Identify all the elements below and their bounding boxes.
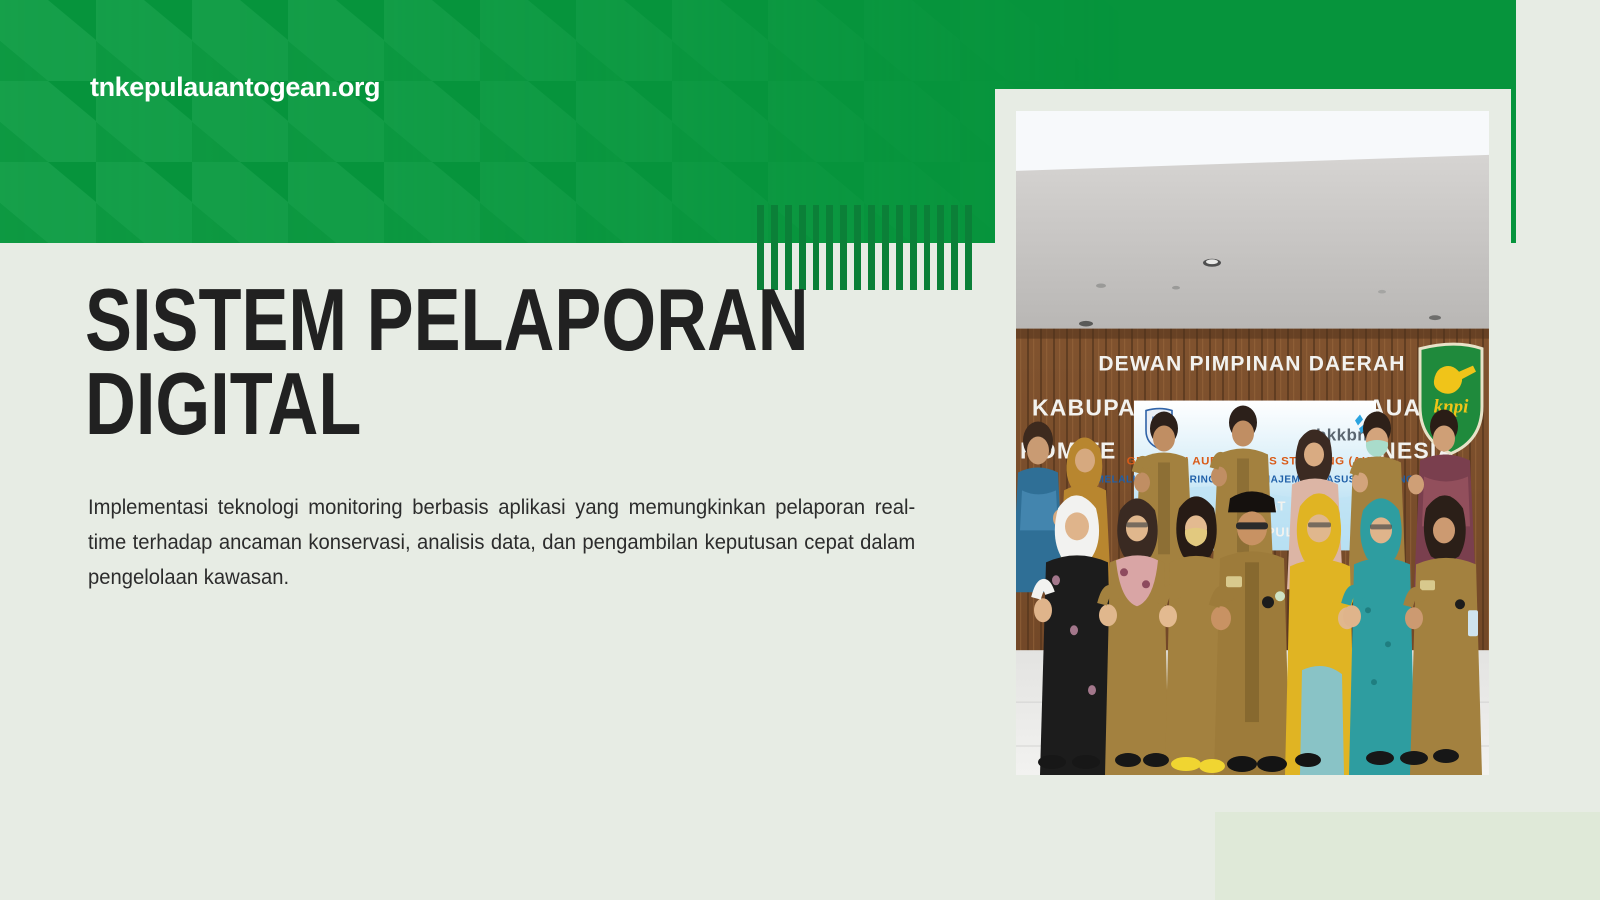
bar (951, 205, 958, 290)
photo-card: DEWAN PIMPINAN DAERAH KABUPA AUAN KOMITE… (995, 89, 1511, 806)
body-paragraph: Implementasi teknologi monitoring berbas… (88, 490, 915, 594)
bar (910, 205, 917, 290)
bar (868, 205, 875, 290)
bar (840, 205, 847, 290)
page-title-line-2: DIGITAL (85, 362, 693, 446)
svg-text:KABUPA: KABUPA (1032, 395, 1136, 421)
bar (937, 205, 944, 290)
site-url[interactable]: tnkepulauantogean.org (90, 72, 380, 103)
bar (965, 205, 972, 290)
svg-text:DEWAN PIMPINAN DAERAH: DEWAN PIMPINAN DAERAH (1098, 353, 1405, 376)
bar (854, 205, 861, 290)
page-title: SISTEM PELAPORAN DIGITAL (85, 278, 693, 445)
bar (813, 205, 820, 290)
bar (826, 205, 833, 290)
slide-root: tnkepulauantogean.org SISTEM PELAPORAN D… (0, 0, 1600, 900)
bar (924, 205, 931, 290)
bar (896, 205, 903, 290)
page-title-line-1: SISTEM PELAPORAN (85, 278, 693, 362)
group-photo: DEWAN PIMPINAN DAERAH KABUPA AUAN KOMITE… (1016, 111, 1489, 775)
accent-block-bottom-right (1215, 812, 1600, 900)
bar (882, 205, 889, 290)
